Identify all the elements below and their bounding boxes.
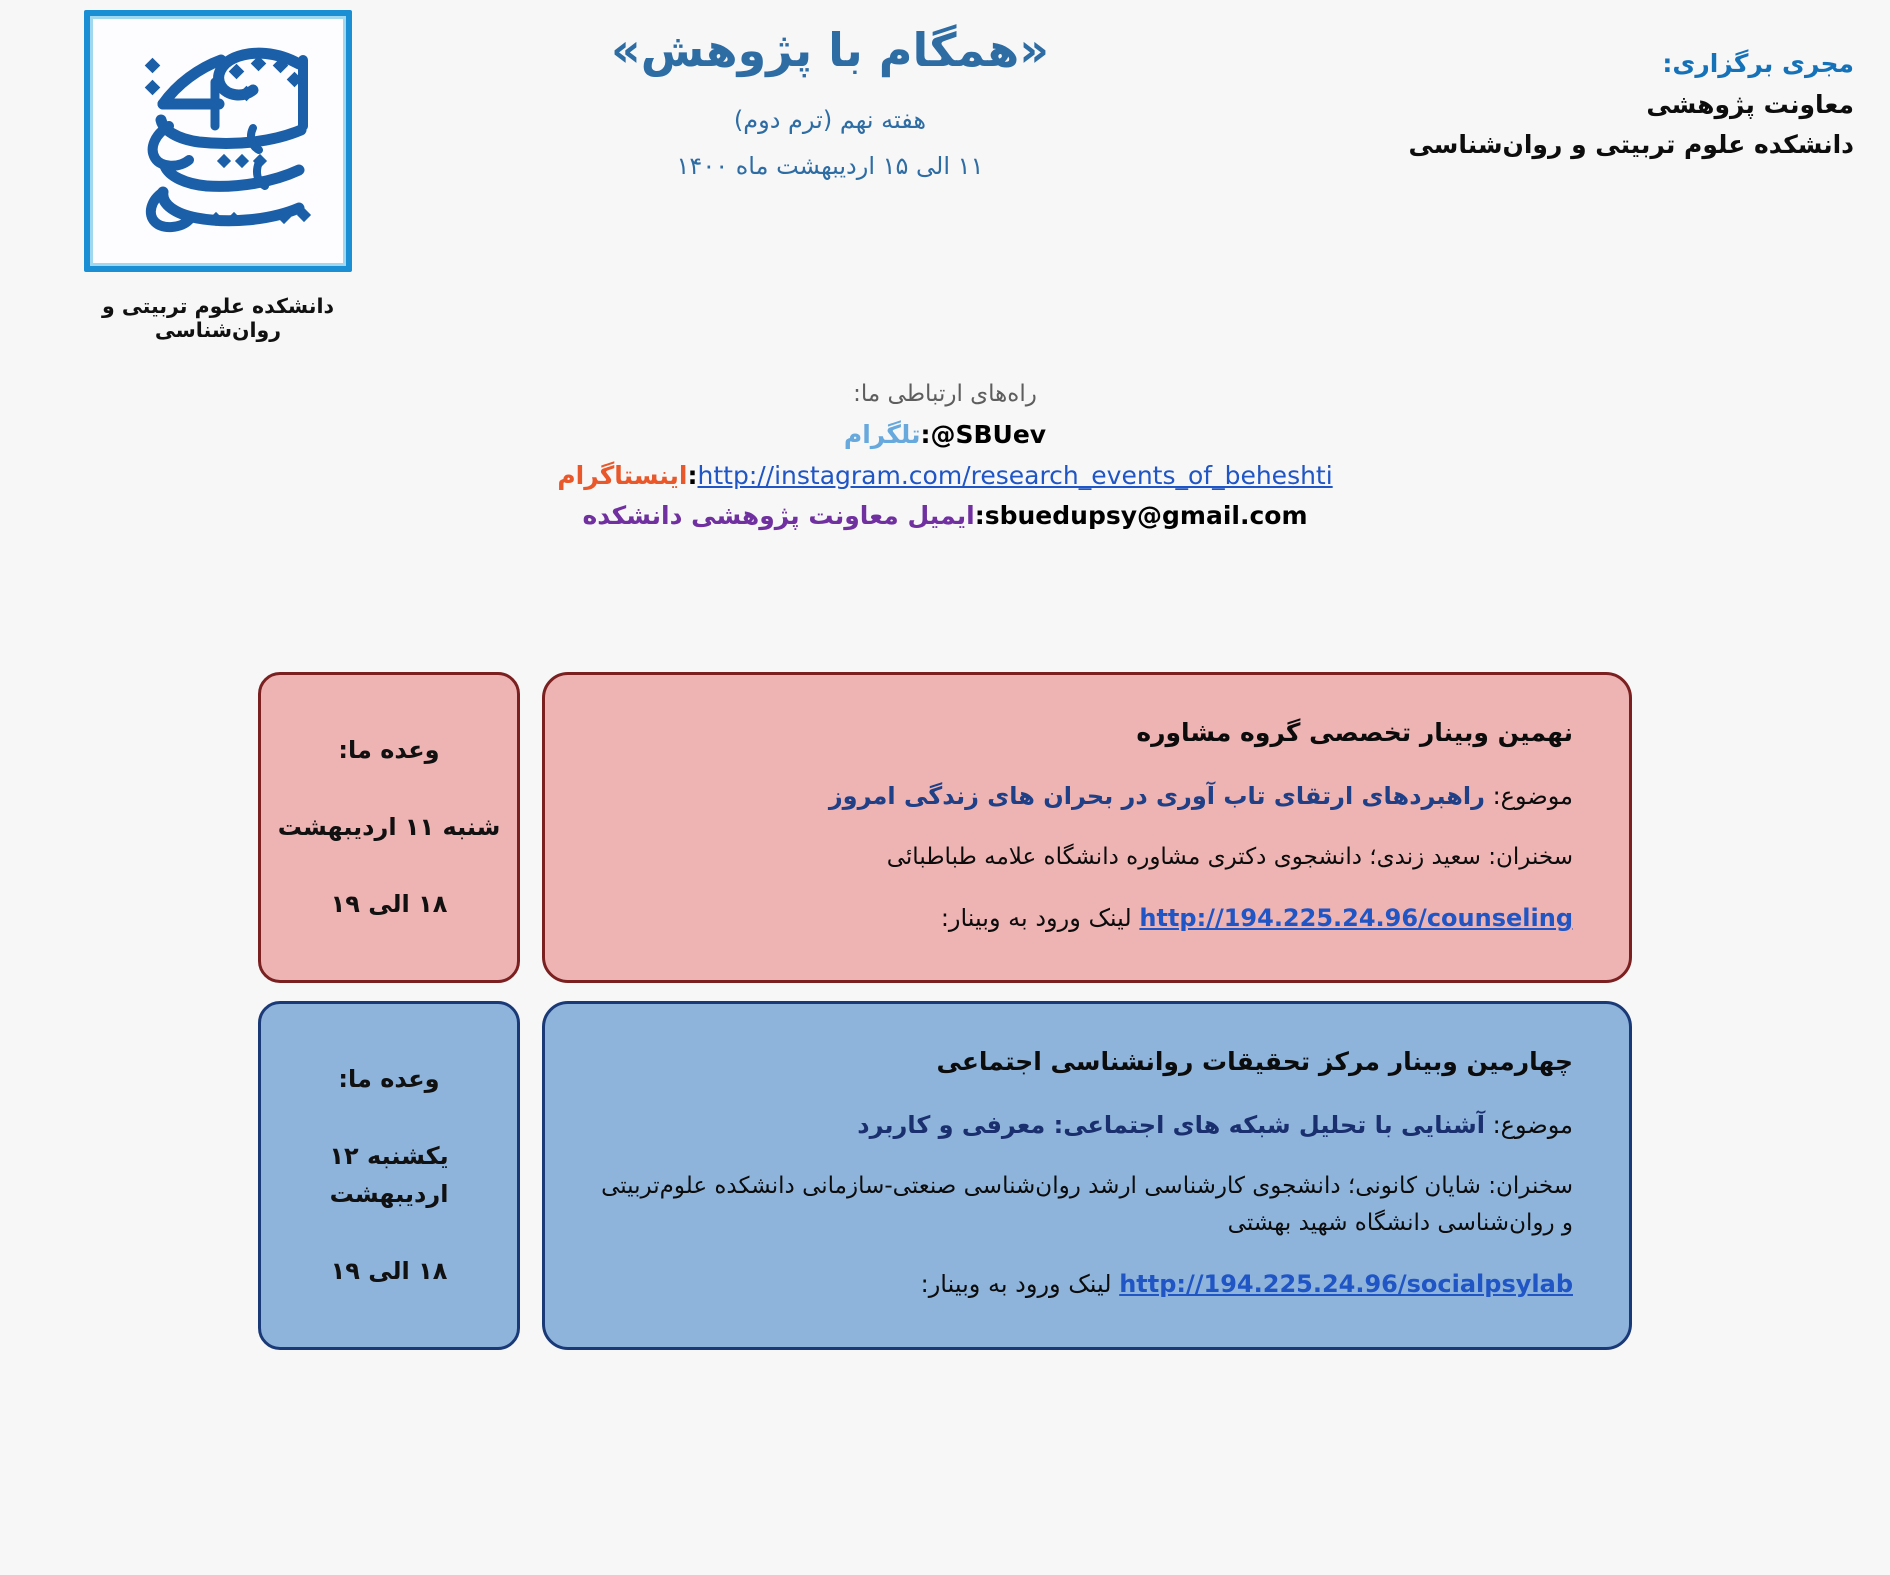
badge-day: یکشنبه ۱۲ اردیبهشت	[271, 1137, 507, 1214]
contact-heading: راه‌های ارتباطی ما:	[0, 376, 1890, 413]
session-badge-content: وعده ما: شنبه ۱۱ اردیبهشت ۱۸ الی ۱۹	[278, 693, 501, 962]
organizer-line-1: معاونت پژوهشی	[1408, 85, 1854, 126]
session-topic-value: آشنایی با تحلیل شبکه های اجتماعی: معرفی …	[857, 1111, 1485, 1139]
badge-time: ۱۸ الی ۱۹	[271, 1252, 507, 1290]
organizer-block: مجری برگزاری: معاونت پژوهشی دانشکده علوم…	[1408, 44, 1854, 166]
contact-row-telegram: @SBUev:تلگرام	[0, 415, 1890, 456]
session-link-label: لینک ورود به وبینار:	[941, 904, 1132, 932]
session-join-link[interactable]: http://194.225.24.96/socialpsylab	[1119, 1270, 1573, 1298]
badge-label: وعده ما:	[271, 1060, 507, 1098]
email-address[interactable]: sbuedupsy@gmail.com	[985, 501, 1308, 530]
session-link-row: http://194.225.24.96/counseling لینک ورو…	[601, 900, 1573, 936]
session-date-badge: وعده ما: شنبه ۱۱ اردیبهشت ۱۸ الی ۱۹	[258, 672, 520, 983]
session-topic: موضوع: راهبردهای ارتقای تاب آوری در بحرا…	[601, 778, 1573, 815]
session-speaker: سخنران: شایان کانونی؛ دانشجوی کارشناسی ا…	[601, 1168, 1573, 1242]
instagram-separator: :	[688, 461, 698, 490]
university-logo-block: دانشکده علوم تربیتی و روان‌شناسی	[38, 10, 398, 342]
contact-row-email: sbuedupsy@gmail.com:ایمیل معاونت پژوهشی …	[0, 496, 1890, 537]
session-topic: موضوع: آشنایی با تحلیل شبکه های اجتماعی:…	[601, 1107, 1573, 1144]
contact-block: راه‌های ارتباطی ما: @SBUev:تلگرام http:/…	[0, 376, 1890, 537]
session-speaker: سخنران: سعید زندی؛ دانشجوی دکتری مشاوره …	[601, 839, 1573, 876]
session-topic-label: موضوع:	[1493, 1111, 1573, 1139]
session-row: نهمین وبینار تخصصی گروه مشاوره موضوع: را…	[0, 672, 1890, 983]
instagram-link[interactable]: http://instagram.com/research_events_of_…	[698, 461, 1333, 490]
session-date-badge: وعده ما: یکشنبه ۱۲ اردیبهشت ۱۸ الی ۱۹	[258, 1001, 520, 1350]
contact-row-instagram: http://instagram.com/research_events_of_…	[0, 456, 1890, 497]
badge-day: شنبه ۱۱ اردیبهشت	[278, 808, 501, 846]
event-date-range: ۱۱ الی ۱۵ اردیبهشت ماه ۱۴۰۰	[470, 148, 1190, 184]
session-row: چهارمین وبینار مرکز تحقیقات روانشناسی اج…	[0, 1001, 1890, 1350]
instagram-label: اینستاگرام	[557, 461, 687, 490]
poster-header: دانشکده علوم تربیتی و روان‌شناسی «همگام …	[0, 0, 1890, 420]
telegram-label: تلگرام	[844, 420, 921, 449]
session-list: نهمین وبینار تخصصی گروه مشاوره موضوع: را…	[0, 672, 1890, 1368]
session-card-counseling[interactable]: نهمین وبینار تخصصی گروه مشاوره موضوع: را…	[542, 672, 1632, 983]
page-title: «همگام با پژوهش»	[470, 22, 1190, 80]
organizer-label: مجری برگزاری:	[1408, 44, 1854, 85]
session-title: نهمین وبینار تخصصی گروه مشاوره	[601, 715, 1573, 750]
session-topic-label: موضوع:	[1493, 782, 1573, 810]
session-badge-content: وعده ما: یکشنبه ۱۲ اردیبهشت ۱۸ الی ۱۹	[271, 1022, 507, 1329]
telegram-handle[interactable]: @SBUev	[930, 420, 1046, 449]
telegram-separator: :	[920, 420, 930, 449]
session-speaker-value: شایان کانونی؛ دانشجوی کارشناسی ارشد روان…	[601, 1173, 1573, 1236]
session-topic-value: راهبردهای ارتقای تاب آوری در بحران های ز…	[829, 782, 1485, 810]
email-label: ایمیل معاونت پژوهشی دانشکده	[582, 501, 974, 530]
session-join-link[interactable]: http://194.225.24.96/counseling	[1139, 904, 1573, 932]
session-link-row: http://194.225.24.96/socialpsylab لینک و…	[601, 1266, 1573, 1302]
title-block: «همگام با پژوهش» هفته نهم (ترم دوم) ۱۱ ا…	[470, 22, 1190, 184]
faculty-caption: دانشکده علوم تربیتی و روان‌شناسی	[38, 294, 398, 342]
email-separator: :	[975, 501, 985, 530]
page-subtitle: هفته نهم (ترم دوم)	[470, 102, 1190, 138]
shahid-beheshti-university-logo-icon	[90, 16, 346, 266]
logo-frame	[84, 10, 352, 272]
badge-time: ۱۸ الی ۱۹	[278, 885, 501, 923]
badge-label: وعده ما:	[278, 731, 501, 769]
session-speaker-label: سخنران:	[1488, 1173, 1573, 1199]
organizer-line-2: دانشکده علوم تربیتی و روان‌شناسی	[1408, 125, 1854, 166]
session-speaker-value: سعید زندی؛ دانشجوی دکتری مشاوره دانشگاه …	[887, 844, 1481, 870]
session-speaker-label: سخنران:	[1488, 844, 1573, 870]
session-card-socialpsylab[interactable]: چهارمین وبینار مرکز تحقیقات روانشناسی اج…	[542, 1001, 1632, 1350]
session-link-label: لینک ورود به وبینار:	[921, 1270, 1112, 1298]
session-title: چهارمین وبینار مرکز تحقیقات روانشناسی اج…	[601, 1044, 1573, 1079]
